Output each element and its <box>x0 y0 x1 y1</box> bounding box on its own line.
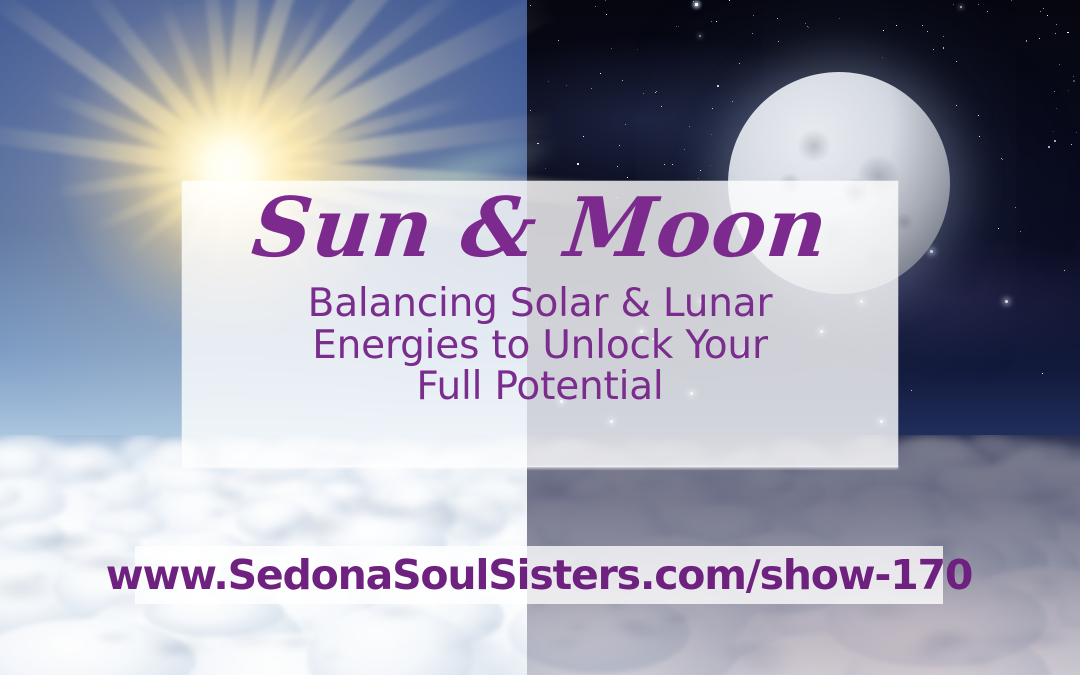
cloud-shadow <box>209 489 250 500</box>
cloud-shadow <box>346 476 367 484</box>
cloud-shadow <box>273 512 356 541</box>
cloud-shadow <box>295 621 319 630</box>
cloud-shadow <box>465 519 486 524</box>
subtitle-line-1: Balancing Solar & Lunar <box>308 283 773 325</box>
cloud-shadow <box>204 508 231 518</box>
subtitle-line-3: Full Potential <box>308 366 773 408</box>
page-title: Sun & Moon <box>249 187 832 269</box>
episode-cover-graphic: Sun & Moon Balancing Solar & Lunar Energ… <box>0 0 1080 675</box>
cloud-shadow <box>68 466 121 483</box>
title-text-block: Sun & Moon Balancing Solar & Lunar Energ… <box>182 181 898 467</box>
cloud-shadow <box>144 634 215 659</box>
subtitle: Balancing Solar & Lunar Energies to Unlo… <box>308 283 773 408</box>
website-url[interactable]: www.SedonaSoulSisters.com/show-170 <box>135 546 943 604</box>
cloud-shadow <box>321 652 343 660</box>
subtitle-line-2: Energies to Unlock Your <box>308 325 773 367</box>
cloud-shadow <box>434 635 504 657</box>
cloud-shadow <box>81 492 103 499</box>
